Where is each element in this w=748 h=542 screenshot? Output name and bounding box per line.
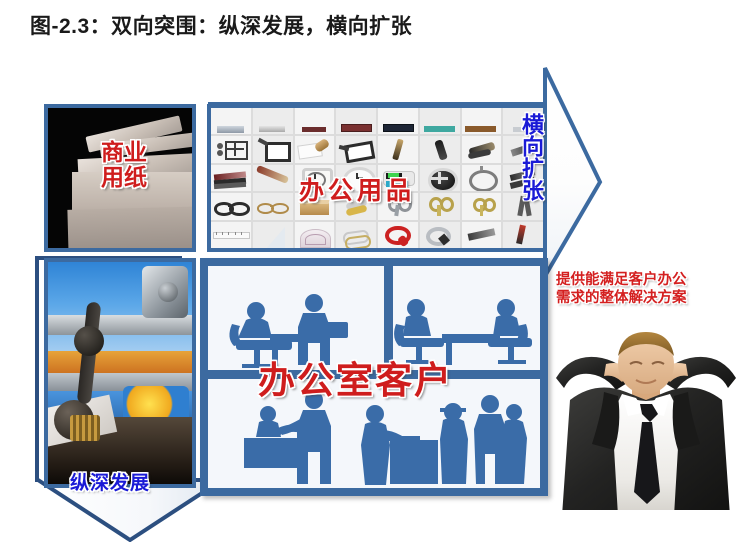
slide-canvas: 图-2.3：双向突围：纵深发展，横向扩张 bbox=[0, 0, 748, 542]
supply-item bbox=[336, 222, 376, 248]
supply-item bbox=[462, 222, 502, 248]
supply-item bbox=[336, 136, 376, 162]
label-business-paper: 商业 用纸 bbox=[48, 140, 196, 190]
supply-item bbox=[211, 222, 251, 248]
supply-item bbox=[336, 108, 376, 134]
supply-item bbox=[211, 165, 251, 191]
supply-item bbox=[420, 193, 460, 219]
label-deep-development: 纵深发展 bbox=[70, 468, 150, 495]
supply-item bbox=[378, 222, 418, 248]
supply-item bbox=[462, 193, 502, 219]
supply-item bbox=[420, 108, 460, 134]
supply-item bbox=[295, 222, 335, 248]
supply-item bbox=[253, 165, 293, 191]
relaxed-businessman-photo bbox=[548, 326, 744, 522]
supply-item bbox=[378, 136, 418, 162]
panel-business-printing[interactable]: 商务印刷 bbox=[44, 258, 196, 488]
printing-press-image bbox=[48, 262, 192, 484]
supply-item bbox=[295, 108, 335, 134]
supply-item bbox=[211, 136, 251, 162]
supply-item bbox=[378, 108, 418, 134]
callout-line-2: 需求的整体解决方案 bbox=[556, 290, 687, 306]
supply-item bbox=[503, 222, 543, 248]
panel-office-supplies[interactable]: 办公用品 bbox=[207, 104, 547, 252]
supply-item bbox=[211, 108, 251, 134]
supply-item bbox=[462, 108, 502, 134]
callout-line-1: 提供能满足客户办公 bbox=[556, 272, 687, 288]
supply-item bbox=[211, 193, 251, 219]
supply-item bbox=[253, 222, 293, 248]
label-office-supplies: 办公用品 bbox=[299, 171, 415, 207]
supply-item bbox=[462, 165, 502, 191]
supply-item bbox=[420, 136, 460, 162]
label-office-customers: 办公室客户 bbox=[258, 350, 453, 404]
supply-item bbox=[253, 193, 293, 219]
supply-item bbox=[420, 165, 460, 191]
callout-solution-text: 提供能满足客户办公 需求的整体解决方案 bbox=[556, 271, 687, 307]
panel-business-paper[interactable]: 商业 用纸 bbox=[44, 104, 196, 252]
supply-item bbox=[420, 222, 460, 248]
paper-label-line1: 商业 bbox=[101, 139, 147, 165]
supply-item bbox=[253, 108, 293, 134]
panel-office-customers[interactable]: 办公室客户 bbox=[200, 258, 548, 496]
supply-item bbox=[253, 136, 293, 162]
supply-item bbox=[295, 136, 335, 162]
paper-label-line2: 用纸 bbox=[101, 164, 147, 190]
label-horizontal-expansion: 横向扩张 bbox=[519, 113, 543, 201]
supply-item bbox=[462, 136, 502, 162]
